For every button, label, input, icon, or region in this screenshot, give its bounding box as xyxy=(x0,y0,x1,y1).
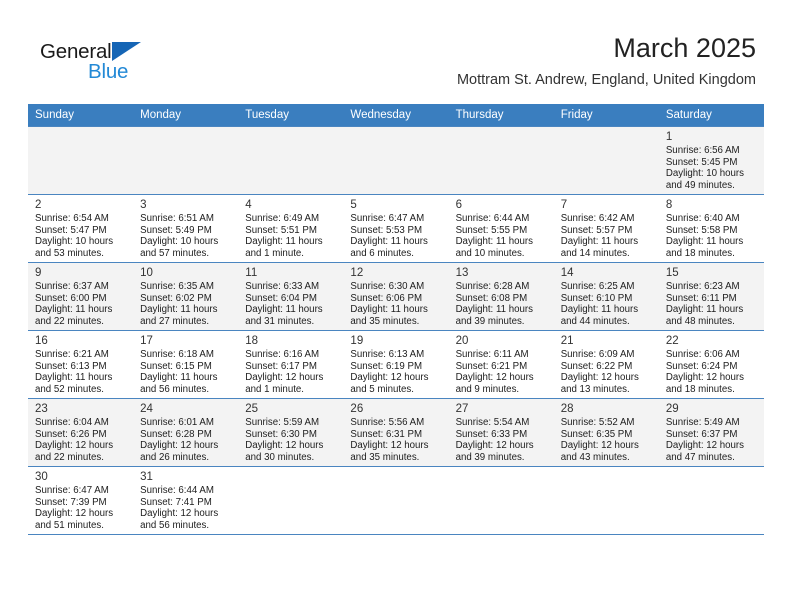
calendar-day-cell[interactable]: 22Sunrise: 6:06 AMSunset: 6:24 PMDayligh… xyxy=(659,331,764,399)
calendar-cell-inner: 29Sunrise: 5:49 AMSunset: 6:37 PMDayligh… xyxy=(659,399,764,466)
sunrise-text: Sunrise: 6:23 AM xyxy=(666,281,758,293)
daylight-text-line1: Daylight: 10 hours xyxy=(140,236,232,248)
calendar-cell-empty xyxy=(343,467,448,535)
daylight-text-line1: Daylight: 11 hours xyxy=(561,304,653,316)
calendar-day-cell[interactable]: 3Sunrise: 6:51 AMSunset: 5:49 PMDaylight… xyxy=(133,195,238,263)
calendar-cell-inner xyxy=(238,127,343,194)
triangle-logo-icon xyxy=(112,42,141,61)
calendar-cell-inner xyxy=(554,127,659,194)
calendar-week-row: 2Sunrise: 6:54 AMSunset: 5:47 PMDaylight… xyxy=(28,195,764,263)
daylight-text-line2: and 26 minutes. xyxy=(140,452,232,464)
sunset-text: Sunset: 7:41 PM xyxy=(140,497,232,509)
calendar-day-cell[interactable]: 8Sunrise: 6:40 AMSunset: 5:58 PMDaylight… xyxy=(659,195,764,263)
weekday-header-tuesday: Tuesday xyxy=(238,104,343,127)
calendar-day-cell[interactable]: 30Sunrise: 6:47 AMSunset: 7:39 PMDayligh… xyxy=(28,467,133,535)
calendar-cell-empty xyxy=(449,127,554,195)
daylight-text-line2: and 22 minutes. xyxy=(35,316,127,328)
daylight-text-line1: Daylight: 12 hours xyxy=(561,372,653,384)
sunset-text: Sunset: 5:45 PM xyxy=(666,157,758,169)
calendar-cell-inner: 16Sunrise: 6:21 AMSunset: 6:13 PMDayligh… xyxy=(28,331,133,398)
calendar-cell-empty xyxy=(449,467,554,535)
sunrise-text: Sunrise: 6:47 AM xyxy=(35,485,127,497)
sunset-text: Sunset: 6:22 PM xyxy=(561,361,653,373)
daylight-text-line2: and 10 minutes. xyxy=(456,248,548,260)
day-number: 7 xyxy=(561,198,653,212)
calendar-day-cell[interactable]: 7Sunrise: 6:42 AMSunset: 5:57 PMDaylight… xyxy=(554,195,659,263)
calendar-week-row: 1Sunrise: 6:56 AMSunset: 5:45 PMDaylight… xyxy=(28,127,764,195)
calendar-cell-inner: 30Sunrise: 6:47 AMSunset: 7:39 PMDayligh… xyxy=(28,467,133,534)
calendar-cell-inner: 12Sunrise: 6:30 AMSunset: 6:06 PMDayligh… xyxy=(343,263,448,330)
sunset-text: Sunset: 6:06 PM xyxy=(350,293,442,305)
day-number: 28 xyxy=(561,402,653,416)
calendar-week-row: 9Sunrise: 6:37 AMSunset: 6:00 PMDaylight… xyxy=(28,263,764,331)
calendar-cell-empty xyxy=(659,467,764,535)
calendar-cell-inner: 23Sunrise: 6:04 AMSunset: 6:26 PMDayligh… xyxy=(28,399,133,466)
calendar-cell-inner: 18Sunrise: 6:16 AMSunset: 6:17 PMDayligh… xyxy=(238,331,343,398)
page-subtitle: Mottram St. Andrew, England, United King… xyxy=(457,70,756,90)
daylight-text-line1: Daylight: 11 hours xyxy=(245,304,337,316)
sunrise-text: Sunrise: 6:47 AM xyxy=(350,213,442,225)
daylight-text-line1: Daylight: 12 hours xyxy=(666,372,758,384)
daylight-text-line2: and 14 minutes. xyxy=(561,248,653,260)
calendar-cell-inner xyxy=(133,127,238,194)
day-number: 1 xyxy=(666,130,758,144)
sunrise-text: Sunrise: 6:13 AM xyxy=(350,349,442,361)
calendar-day-cell[interactable]: 27Sunrise: 5:54 AMSunset: 6:33 PMDayligh… xyxy=(449,399,554,467)
day-number: 5 xyxy=(350,198,442,212)
daylight-text-line2: and 39 minutes. xyxy=(456,452,548,464)
calendar-cell-inner xyxy=(554,467,659,534)
calendar-cell-inner xyxy=(343,127,448,194)
calendar-cell-inner: 2Sunrise: 6:54 AMSunset: 5:47 PMDaylight… xyxy=(28,195,133,262)
sunrise-text: Sunrise: 6:33 AM xyxy=(245,281,337,293)
sunset-text: Sunset: 5:58 PM xyxy=(666,225,758,237)
calendar-cell-inner: 7Sunrise: 6:42 AMSunset: 5:57 PMDaylight… xyxy=(554,195,659,262)
calendar-cell-empty xyxy=(28,127,133,195)
daylight-text-line2: and 51 minutes. xyxy=(35,520,127,532)
daylight-text-line2: and 35 minutes. xyxy=(350,452,442,464)
daylight-text-line2: and 1 minute. xyxy=(245,384,337,396)
sunrise-text: Sunrise: 6:01 AM xyxy=(140,417,232,429)
calendar-cell-inner: 5Sunrise: 6:47 AMSunset: 5:53 PMDaylight… xyxy=(343,195,448,262)
sunrise-text: Sunrise: 5:52 AM xyxy=(561,417,653,429)
calendar-day-cell[interactable]: 2Sunrise: 6:54 AMSunset: 5:47 PMDaylight… xyxy=(28,195,133,263)
sunrise-text: Sunrise: 6:49 AM xyxy=(245,213,337,225)
sunset-text: Sunset: 6:04 PM xyxy=(245,293,337,305)
calendar-cell-inner: 9Sunrise: 6:37 AMSunset: 6:00 PMDaylight… xyxy=(28,263,133,330)
daylight-text-line1: Daylight: 11 hours xyxy=(561,236,653,248)
calendar-grid: Sunday Monday Tuesday Wednesday Thursday… xyxy=(28,104,764,535)
calendar-cell-inner: 27Sunrise: 5:54 AMSunset: 6:33 PMDayligh… xyxy=(449,399,554,466)
calendar-week-row: 30Sunrise: 6:47 AMSunset: 7:39 PMDayligh… xyxy=(28,467,764,535)
day-number: 3 xyxy=(140,198,232,212)
sunset-text: Sunset: 6:19 PM xyxy=(350,361,442,373)
daylight-text-line1: Daylight: 11 hours xyxy=(140,372,232,384)
sunrise-text: Sunrise: 5:49 AM xyxy=(666,417,758,429)
sunset-text: Sunset: 6:37 PM xyxy=(666,429,758,441)
calendar-cell-inner: 15Sunrise: 6:23 AMSunset: 6:11 PMDayligh… xyxy=(659,263,764,330)
daylight-text-line2: and 43 minutes. xyxy=(561,452,653,464)
sunset-text: Sunset: 6:13 PM xyxy=(35,361,127,373)
sunset-text: Sunset: 6:28 PM xyxy=(140,429,232,441)
day-number: 8 xyxy=(666,198,758,212)
sunset-text: Sunset: 6:35 PM xyxy=(561,429,653,441)
calendar-cell-inner: 26Sunrise: 5:56 AMSunset: 6:31 PMDayligh… xyxy=(343,399,448,466)
day-number: 12 xyxy=(350,266,442,280)
day-number: 26 xyxy=(350,402,442,416)
calendar-day-cell[interactable]: 11Sunrise: 6:33 AMSunset: 6:04 PMDayligh… xyxy=(238,263,343,331)
calendar-page: General Blue March 2025 Mottram St. Andr… xyxy=(0,0,792,612)
calendar-day-cell[interactable]: 4Sunrise: 6:49 AMSunset: 5:51 PMDaylight… xyxy=(238,195,343,263)
daylight-text-line2: and 5 minutes. xyxy=(350,384,442,396)
daylight-text-line2: and 9 minutes. xyxy=(456,384,548,396)
day-number: 21 xyxy=(561,334,653,348)
sunset-text: Sunset: 5:47 PM xyxy=(35,225,127,237)
sunset-text: Sunset: 7:39 PM xyxy=(35,497,127,509)
calendar-day-cell[interactable]: 15Sunrise: 6:23 AMSunset: 6:11 PMDayligh… xyxy=(659,263,764,331)
day-number: 17 xyxy=(140,334,232,348)
daylight-text-line2: and 6 minutes. xyxy=(350,248,442,260)
calendar-week-row: 23Sunrise: 6:04 AMSunset: 6:26 PMDayligh… xyxy=(28,399,764,467)
sunset-text: Sunset: 6:24 PM xyxy=(666,361,758,373)
daylight-text-line1: Daylight: 11 hours xyxy=(140,304,232,316)
calendar-cell-inner xyxy=(238,467,343,534)
calendar-cell-inner: 4Sunrise: 6:49 AMSunset: 5:51 PMDaylight… xyxy=(238,195,343,262)
daylight-text-line1: Daylight: 11 hours xyxy=(35,372,127,384)
calendar-day-cell[interactable]: 9Sunrise: 6:37 AMSunset: 6:00 PMDaylight… xyxy=(28,263,133,331)
calendar-day-cell[interactable]: 31Sunrise: 6:44 AMSunset: 7:41 PMDayligh… xyxy=(133,467,238,535)
day-number: 14 xyxy=(561,266,653,280)
daylight-text-line1: Daylight: 12 hours xyxy=(140,440,232,452)
calendar-cell-empty xyxy=(238,467,343,535)
daylight-text-line1: Daylight: 12 hours xyxy=(35,440,127,452)
calendar-cell-inner xyxy=(28,127,133,194)
calendar-cell-empty xyxy=(554,127,659,195)
calendar-day-cell[interactable]: 6Sunrise: 6:44 AMSunset: 5:55 PMDaylight… xyxy=(449,195,554,263)
daylight-text-line1: Daylight: 12 hours xyxy=(666,440,758,452)
day-number: 29 xyxy=(666,402,758,416)
day-number: 9 xyxy=(35,266,127,280)
calendar-day-cell[interactable]: 19Sunrise: 6:13 AMSunset: 6:19 PMDayligh… xyxy=(343,331,448,399)
calendar-day-cell[interactable]: 16Sunrise: 6:21 AMSunset: 6:13 PMDayligh… xyxy=(28,331,133,399)
day-number: 19 xyxy=(350,334,442,348)
sunrise-text: Sunrise: 6:51 AM xyxy=(140,213,232,225)
day-number: 13 xyxy=(456,266,548,280)
daylight-text-line1: Daylight: 12 hours xyxy=(245,440,337,452)
calendar-cell-inner: 25Sunrise: 5:59 AMSunset: 6:30 PMDayligh… xyxy=(238,399,343,466)
daylight-text-line1: Daylight: 12 hours xyxy=(350,440,442,452)
day-number: 2 xyxy=(35,198,127,212)
calendar-cell-inner: 3Sunrise: 6:51 AMSunset: 5:49 PMDaylight… xyxy=(133,195,238,262)
calendar-day-cell[interactable]: 17Sunrise: 6:18 AMSunset: 6:15 PMDayligh… xyxy=(133,331,238,399)
daylight-text-line2: and 49 minutes. xyxy=(666,180,758,192)
sunrise-text: Sunrise: 6:09 AM xyxy=(561,349,653,361)
sunset-text: Sunset: 5:57 PM xyxy=(561,225,653,237)
weekday-header-saturday: Saturday xyxy=(659,104,764,127)
day-number: 24 xyxy=(140,402,232,416)
day-number: 4 xyxy=(245,198,337,212)
daylight-text-line2: and 1 minute. xyxy=(245,248,337,260)
calendar-day-cell[interactable]: 24Sunrise: 6:01 AMSunset: 6:28 PMDayligh… xyxy=(133,399,238,467)
daylight-text-line1: Daylight: 12 hours xyxy=(456,372,548,384)
daylight-text-line1: Daylight: 10 hours xyxy=(666,168,758,180)
day-number: 30 xyxy=(35,470,127,484)
daylight-text-line2: and 53 minutes. xyxy=(35,248,127,260)
daylight-text-line1: Daylight: 12 hours xyxy=(245,372,337,384)
daylight-text-line1: Daylight: 11 hours xyxy=(350,236,442,248)
calendar-day-cell[interactable]: 20Sunrise: 6:11 AMSunset: 6:21 PMDayligh… xyxy=(449,331,554,399)
sunrise-text: Sunrise: 6:21 AM xyxy=(35,349,127,361)
calendar-cell-inner: 6Sunrise: 6:44 AMSunset: 5:55 PMDaylight… xyxy=(449,195,554,262)
calendar-day-cell[interactable]: 23Sunrise: 6:04 AMSunset: 6:26 PMDayligh… xyxy=(28,399,133,467)
sunrise-text: Sunrise: 6:11 AM xyxy=(456,349,548,361)
day-number: 27 xyxy=(456,402,548,416)
calendar-day-cell[interactable]: 18Sunrise: 6:16 AMSunset: 6:17 PMDayligh… xyxy=(238,331,343,399)
weekday-header-wednesday: Wednesday xyxy=(343,104,448,127)
sunrise-text: Sunrise: 5:56 AM xyxy=(350,417,442,429)
calendar-week-row: 16Sunrise: 6:21 AMSunset: 6:13 PMDayligh… xyxy=(28,331,764,399)
calendar-cell-inner: 24Sunrise: 6:01 AMSunset: 6:28 PMDayligh… xyxy=(133,399,238,466)
logo-text-blue: Blue xyxy=(88,60,128,83)
sunset-text: Sunset: 6:17 PM xyxy=(245,361,337,373)
daylight-text-line1: Daylight: 12 hours xyxy=(350,372,442,384)
daylight-text-line2: and 35 minutes. xyxy=(350,316,442,328)
day-number: 25 xyxy=(245,402,337,416)
daylight-text-line1: Daylight: 11 hours xyxy=(456,236,548,248)
day-number: 18 xyxy=(245,334,337,348)
daylight-text-line1: Daylight: 11 hours xyxy=(456,304,548,316)
calendar-cell-inner: 14Sunrise: 6:25 AMSunset: 6:10 PMDayligh… xyxy=(554,263,659,330)
day-number: 23 xyxy=(35,402,127,416)
daylight-text-line2: and 44 minutes. xyxy=(561,316,653,328)
calendar-cell-inner xyxy=(449,127,554,194)
day-number: 20 xyxy=(456,334,548,348)
sunrise-text: Sunrise: 6:35 AM xyxy=(140,281,232,293)
sunset-text: Sunset: 5:55 PM xyxy=(456,225,548,237)
calendar-day-cell[interactable]: 1Sunrise: 6:56 AMSunset: 5:45 PMDaylight… xyxy=(659,127,764,195)
daylight-text-line2: and 56 minutes. xyxy=(140,384,232,396)
daylight-text-line2: and 30 minutes. xyxy=(245,452,337,464)
sunset-text: Sunset: 6:00 PM xyxy=(35,293,127,305)
daylight-text-line2: and 48 minutes. xyxy=(666,316,758,328)
daylight-text-line2: and 13 minutes. xyxy=(561,384,653,396)
daylight-text-line2: and 57 minutes. xyxy=(140,248,232,260)
sunrise-text: Sunrise: 5:59 AM xyxy=(245,417,337,429)
calendar-day-cell[interactable]: 12Sunrise: 6:30 AMSunset: 6:06 PMDayligh… xyxy=(343,263,448,331)
sunrise-text: Sunrise: 6:25 AM xyxy=(561,281,653,293)
daylight-text-line2: and 47 minutes. xyxy=(666,452,758,464)
sunrise-text: Sunrise: 6:37 AM xyxy=(35,281,127,293)
day-number: 22 xyxy=(666,334,758,348)
sunrise-text: Sunrise: 6:16 AM xyxy=(245,349,337,361)
day-number: 6 xyxy=(456,198,548,212)
sunset-text: Sunset: 6:30 PM xyxy=(245,429,337,441)
sunset-text: Sunset: 6:10 PM xyxy=(561,293,653,305)
sunrise-text: Sunrise: 6:40 AM xyxy=(666,213,758,225)
sunset-text: Sunset: 6:21 PM xyxy=(456,361,548,373)
calendar-cell-empty xyxy=(554,467,659,535)
daylight-text-line1: Daylight: 12 hours xyxy=(35,508,127,520)
calendar-body: 1Sunrise: 6:56 AMSunset: 5:45 PMDaylight… xyxy=(28,127,764,535)
sunset-text: Sunset: 6:31 PM xyxy=(350,429,442,441)
sunset-text: Sunset: 5:53 PM xyxy=(350,225,442,237)
sunrise-text: Sunrise: 6:28 AM xyxy=(456,281,548,293)
sunrise-text: Sunrise: 6:44 AM xyxy=(140,485,232,497)
calendar-cell-empty xyxy=(133,127,238,195)
calendar-cell-inner: 8Sunrise: 6:40 AMSunset: 5:58 PMDaylight… xyxy=(659,195,764,262)
calendar-day-cell[interactable]: 13Sunrise: 6:28 AMSunset: 6:08 PMDayligh… xyxy=(449,263,554,331)
calendar-day-cell[interactable]: 25Sunrise: 5:59 AMSunset: 6:30 PMDayligh… xyxy=(238,399,343,467)
daylight-text-line2: and 27 minutes. xyxy=(140,316,232,328)
daylight-text-line2: and 31 minutes. xyxy=(245,316,337,328)
calendar-cell-inner: 11Sunrise: 6:33 AMSunset: 6:04 PMDayligh… xyxy=(238,263,343,330)
calendar-cell-inner: 22Sunrise: 6:06 AMSunset: 6:24 PMDayligh… xyxy=(659,331,764,398)
calendar-day-cell[interactable]: 28Sunrise: 5:52 AMSunset: 6:35 PMDayligh… xyxy=(554,399,659,467)
calendar-day-cell[interactable]: 29Sunrise: 5:49 AMSunset: 6:37 PMDayligh… xyxy=(659,399,764,467)
calendar-cell-empty xyxy=(238,127,343,195)
sunrise-text: Sunrise: 6:18 AM xyxy=(140,349,232,361)
page-header: General Blue March 2025 Mottram St. Andr… xyxy=(0,0,792,104)
daylight-text-line1: Daylight: 11 hours xyxy=(245,236,337,248)
sunrise-text: Sunrise: 6:54 AM xyxy=(35,213,127,225)
daylight-text-line1: Daylight: 10 hours xyxy=(35,236,127,248)
sunrise-text: Sunrise: 6:56 AM xyxy=(666,145,758,157)
sunrise-text: Sunrise: 6:04 AM xyxy=(35,417,127,429)
sunset-text: Sunset: 5:49 PM xyxy=(140,225,232,237)
daylight-text-line2: and 52 minutes. xyxy=(35,384,127,396)
daylight-text-line1: Daylight: 12 hours xyxy=(140,508,232,520)
calendar-day-cell[interactable]: 5Sunrise: 6:47 AMSunset: 5:53 PMDaylight… xyxy=(343,195,448,263)
daylight-text-line2: and 22 minutes. xyxy=(35,452,127,464)
day-number: 15 xyxy=(666,266,758,280)
day-number: 11 xyxy=(245,266,337,280)
calendar-cell-inner: 13Sunrise: 6:28 AMSunset: 6:08 PMDayligh… xyxy=(449,263,554,330)
daylight-text-line1: Daylight: 11 hours xyxy=(350,304,442,316)
calendar-cell-inner: 1Sunrise: 6:56 AMSunset: 5:45 PMDaylight… xyxy=(659,127,764,194)
weekday-header-friday: Friday xyxy=(554,104,659,127)
weekday-header-thursday: Thursday xyxy=(449,104,554,127)
calendar-day-cell[interactable]: 26Sunrise: 5:56 AMSunset: 6:31 PMDayligh… xyxy=(343,399,448,467)
calendar-cell-inner: 20Sunrise: 6:11 AMSunset: 6:21 PMDayligh… xyxy=(449,331,554,398)
weekday-header-row: Sunday Monday Tuesday Wednesday Thursday… xyxy=(28,104,764,127)
calendar-day-cell[interactable]: 10Sunrise: 6:35 AMSunset: 6:02 PMDayligh… xyxy=(133,263,238,331)
calendar-cell-inner: 10Sunrise: 6:35 AMSunset: 6:02 PMDayligh… xyxy=(133,263,238,330)
calendar-cell-inner xyxy=(343,467,448,534)
sunset-text: Sunset: 6:15 PM xyxy=(140,361,232,373)
calendar-cell-inner: 17Sunrise: 6:18 AMSunset: 6:15 PMDayligh… xyxy=(133,331,238,398)
daylight-text-line1: Daylight: 11 hours xyxy=(35,304,127,316)
calendar-cell-inner xyxy=(449,467,554,534)
daylight-text-line1: Daylight: 11 hours xyxy=(666,236,758,248)
sunrise-text: Sunrise: 5:54 AM xyxy=(456,417,548,429)
sunset-text: Sunset: 6:02 PM xyxy=(140,293,232,305)
general-blue-logo[interactable]: General Blue xyxy=(40,40,170,86)
day-number: 31 xyxy=(140,470,232,484)
daylight-text-line1: Daylight: 12 hours xyxy=(561,440,653,452)
daylight-text-line1: Daylight: 11 hours xyxy=(666,304,758,316)
title-block: March 2025 Mottram St. Andrew, England, … xyxy=(457,32,756,90)
daylight-text-line1: Daylight: 12 hours xyxy=(456,440,548,452)
sunrise-text: Sunrise: 6:44 AM xyxy=(456,213,548,225)
sunset-text: Sunset: 5:51 PM xyxy=(245,225,337,237)
daylight-text-line2: and 18 minutes. xyxy=(666,248,758,260)
page-title: March 2025 xyxy=(457,32,756,64)
weekday-header-monday: Monday xyxy=(133,104,238,127)
sunrise-text: Sunrise: 6:30 AM xyxy=(350,281,442,293)
daylight-text-line2: and 39 minutes. xyxy=(456,316,548,328)
daylight-text-line2: and 18 minutes. xyxy=(666,384,758,396)
sunset-text: Sunset: 6:11 PM xyxy=(666,293,758,305)
daylight-text-line2: and 56 minutes. xyxy=(140,520,232,532)
calendar-cell-inner xyxy=(659,467,764,534)
calendar-cell-inner: 21Sunrise: 6:09 AMSunset: 6:22 PMDayligh… xyxy=(554,331,659,398)
weekday-header-sunday: Sunday xyxy=(28,104,133,127)
day-number: 10 xyxy=(140,266,232,280)
calendar-cell-inner: 28Sunrise: 5:52 AMSunset: 6:35 PMDayligh… xyxy=(554,399,659,466)
day-number: 16 xyxy=(35,334,127,348)
calendar-day-cell[interactable]: 14Sunrise: 6:25 AMSunset: 6:10 PMDayligh… xyxy=(554,263,659,331)
sunrise-text: Sunrise: 6:42 AM xyxy=(561,213,653,225)
calendar-day-cell[interactable]: 21Sunrise: 6:09 AMSunset: 6:22 PMDayligh… xyxy=(554,331,659,399)
calendar-cell-empty xyxy=(343,127,448,195)
sunset-text: Sunset: 6:08 PM xyxy=(456,293,548,305)
sunset-text: Sunset: 6:26 PM xyxy=(35,429,127,441)
sunrise-text: Sunrise: 6:06 AM xyxy=(666,349,758,361)
calendar-cell-inner: 19Sunrise: 6:13 AMSunset: 6:19 PMDayligh… xyxy=(343,331,448,398)
sunset-text: Sunset: 6:33 PM xyxy=(456,429,548,441)
calendar-cell-inner: 31Sunrise: 6:44 AMSunset: 7:41 PMDayligh… xyxy=(133,467,238,534)
